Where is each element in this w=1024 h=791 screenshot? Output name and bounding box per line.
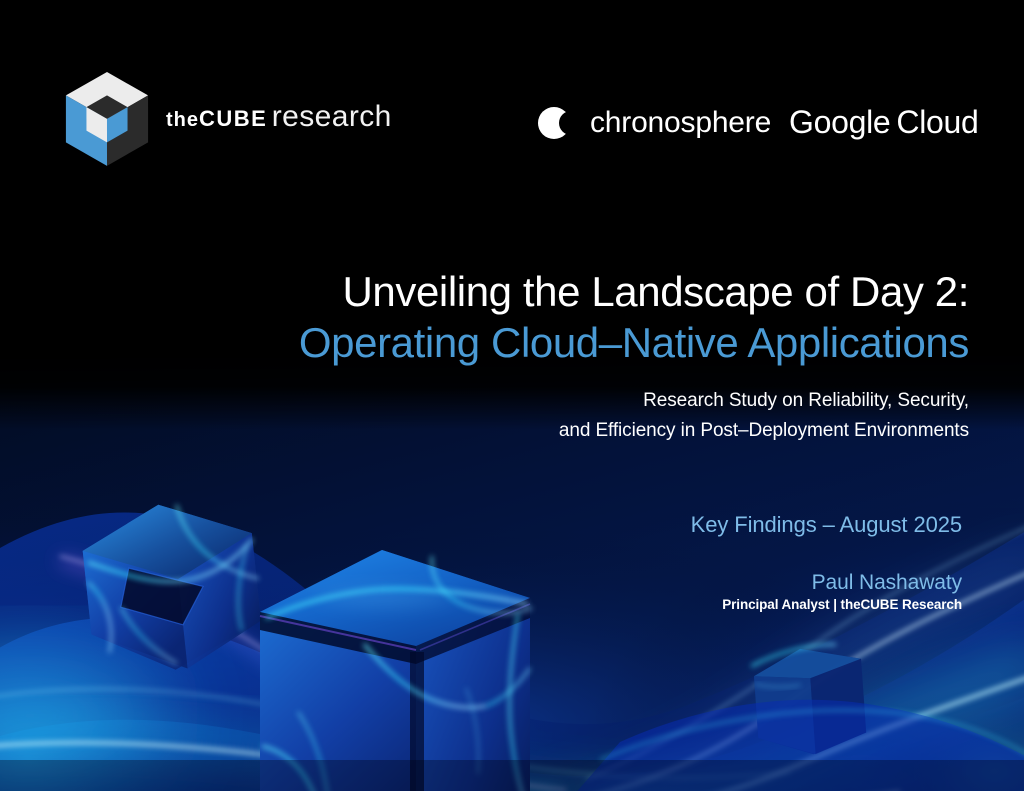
author-role: Principal Analyst | theCUBE Research [691, 597, 962, 612]
page-subtitle-line-2: and Efficiency in Post–Deployment Enviro… [39, 416, 969, 445]
chronosphere-crescent-icon [535, 103, 575, 143]
thecube-the: the [166, 109, 199, 131]
google-word: Google [789, 104, 890, 140]
thecube-wordmark: theCUBE research [166, 101, 392, 137]
key-findings-date: Key Findings – August 2025 [691, 512, 962, 538]
page-title-line-2: Operating Cloud–Native Applications [39, 319, 969, 366]
page-title-line-1: Unveiling the Landscape of Day 2: [39, 268, 969, 315]
thecube-wordmark-top: theCUBE [166, 106, 267, 131]
title-slide: theCUBE research chronosphere [0, 0, 1024, 791]
cloud-word: Cloud [896, 104, 978, 140]
author-name: Paul Nashawaty [691, 571, 962, 595]
chronosphere-logo: chronosphere [535, 103, 771, 143]
page-subtitle: Research Study on Reliability, Security,… [39, 386, 969, 445]
google-cloud-logo: GoogleCloud [789, 104, 979, 141]
thecube-research-logo: theCUBE research [62, 70, 392, 168]
title-block: Unveiling the Landscape of Day 2: Operat… [39, 268, 969, 445]
page-subtitle-line-1: Research Study on Reliability, Security, [39, 386, 969, 415]
chronosphere-wordmark: chronosphere [590, 106, 771, 140]
meta-block: Key Findings – August 2025 Paul Nashawat… [691, 512, 962, 612]
logo-header: theCUBE research chronosphere [0, 0, 1024, 190]
cube-logo-icon [62, 70, 152, 168]
thecube-research-word: research [272, 100, 392, 133]
thecube-cube: CUBE [199, 106, 267, 131]
google-cloud-wordmark: GoogleCloud [789, 104, 979, 140]
